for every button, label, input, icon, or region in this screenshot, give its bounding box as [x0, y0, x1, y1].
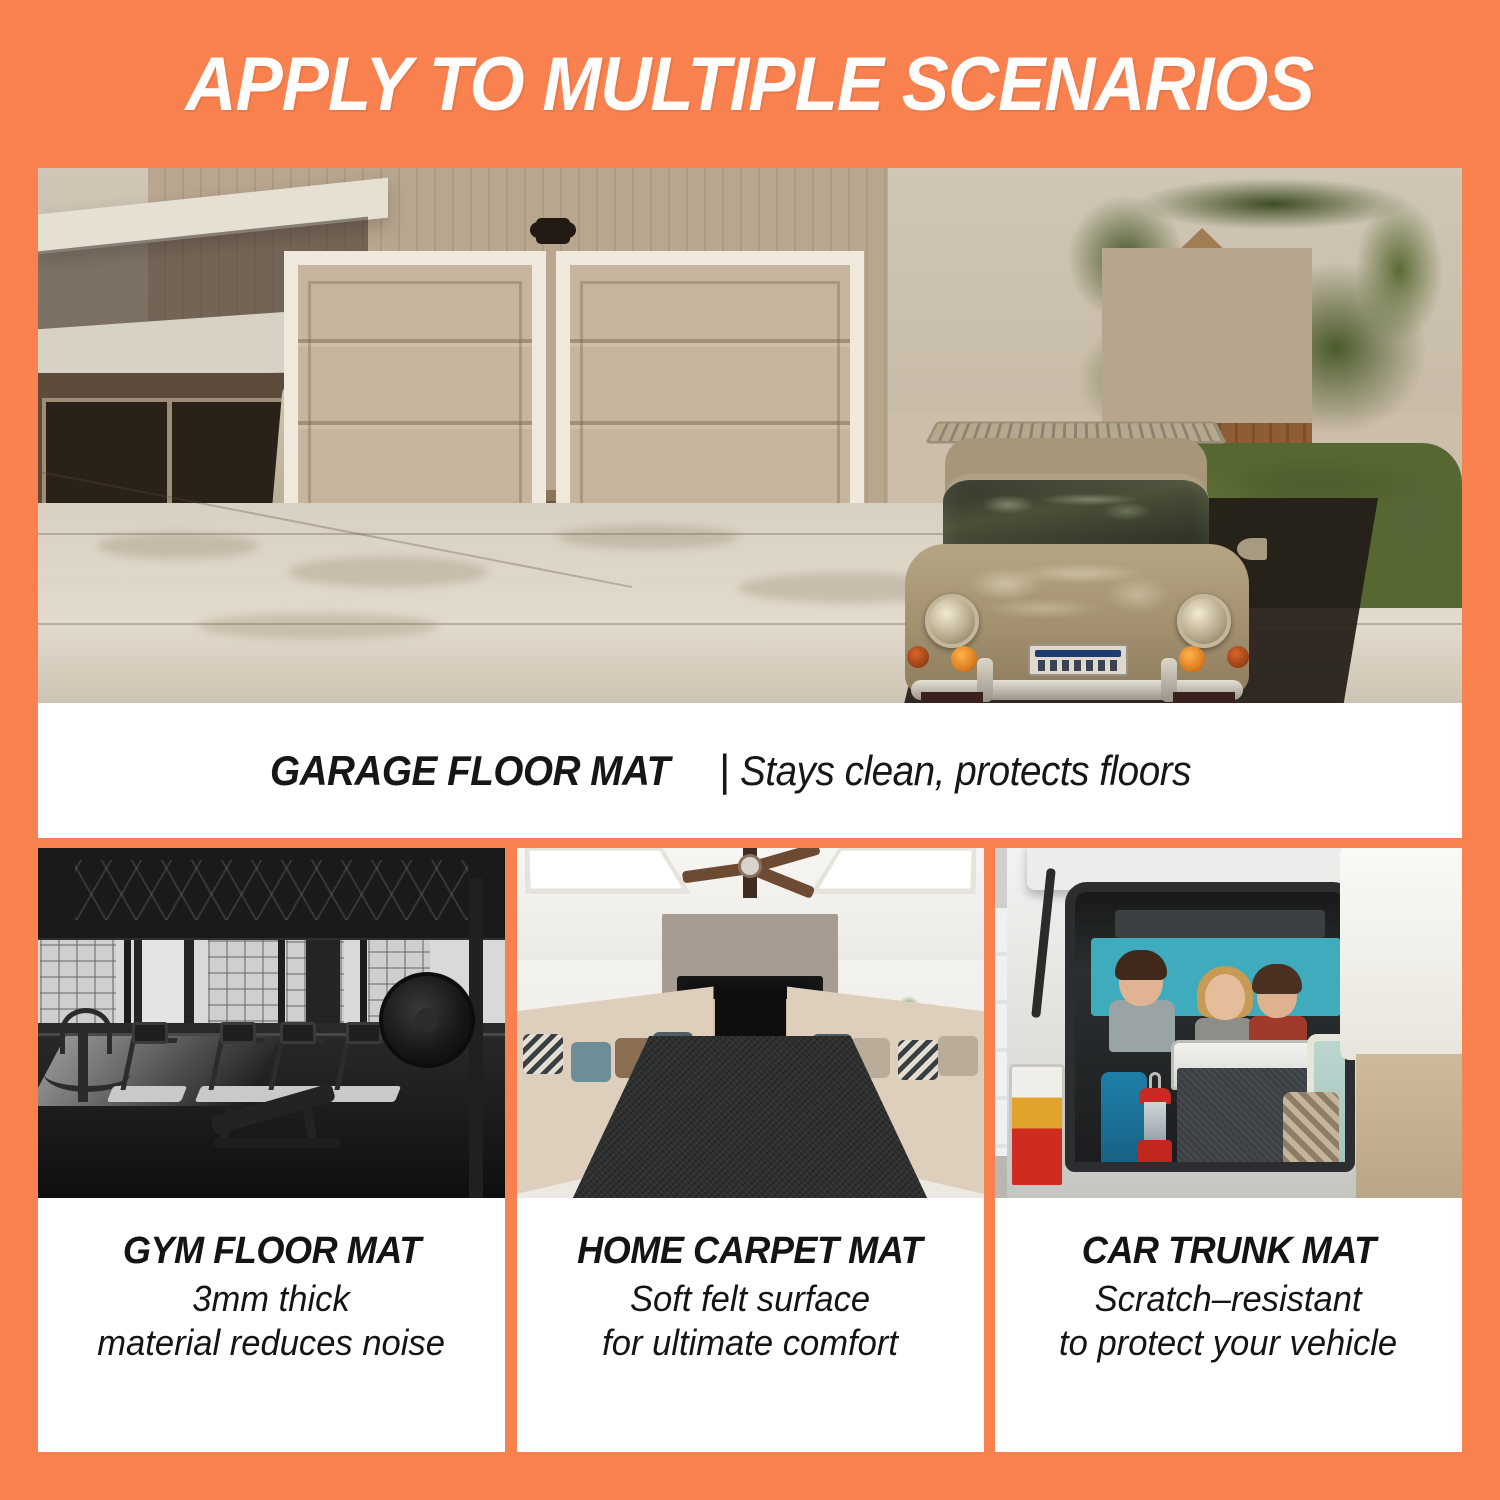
turn-signal-left — [951, 646, 977, 672]
dappled-shadow — [98, 533, 258, 559]
tail-light — [1009, 1064, 1065, 1188]
child-left — [1109, 956, 1175, 1048]
side-marker-left — [907, 646, 929, 668]
home-caption: HOME CARPET MAT Soft felt surface for ul… — [517, 1198, 984, 1452]
trunk-scene-illustration — [995, 848, 1462, 1198]
trunk-card-subtitle-line1: Scratch–resistant — [1095, 1277, 1362, 1321]
gym-photo — [38, 848, 505, 1198]
windshield — [943, 474, 1209, 554]
tire-left — [921, 692, 983, 703]
trunk-opening — [1065, 882, 1355, 1172]
tire-right — [1173, 692, 1235, 703]
gym-card-subtitle-line1: 3mm thick — [193, 1277, 350, 1321]
gym-caption: GYM FLOOR MAT 3mm thick material reduces… — [38, 1198, 505, 1452]
camping-lantern — [1137, 1088, 1173, 1172]
ceiling-fan — [672, 848, 828, 910]
featured-caption-title: GARAGE FLOOR MAT — [270, 747, 670, 795]
living-room-scene-illustration — [517, 848, 984, 1198]
skylight-left — [524, 848, 690, 894]
trunk-caption: CAR TRUNK MAT Scratch–resistant to prote… — [995, 1198, 1462, 1452]
vintage-car — [883, 418, 1273, 703]
throw-pillow — [898, 1040, 938, 1080]
hood-light-dapple — [943, 556, 1193, 626]
gym-card-subtitle-line2: material reduces noise — [98, 1321, 446, 1365]
garage-photo — [38, 168, 1462, 703]
throw-pillow — [523, 1034, 563, 1074]
headlight-left — [925, 594, 979, 648]
throw-pillow — [571, 1042, 611, 1082]
dappled-shadow — [198, 613, 438, 639]
house-window — [42, 398, 292, 508]
scenario-card-gym: GYM FLOOR MAT 3mm thick material reduces… — [38, 848, 505, 1452]
home-card-subtitle-line2: for ultimate comfort — [602, 1321, 898, 1365]
security-light — [536, 218, 570, 244]
treadmill — [110, 1024, 184, 1102]
car-trunk-photo — [995, 848, 1462, 1198]
living-room-photo — [517, 848, 984, 1198]
scenario-card-row: GYM FLOOR MAT 3mm thick material reduces… — [38, 848, 1462, 1452]
headliner — [1115, 910, 1325, 938]
adult-standing — [1340, 848, 1462, 1198]
gym-card-title: GYM FLOOR MAT — [123, 1230, 421, 1273]
home-card-subtitle-line1: Soft felt surface — [630, 1277, 870, 1321]
featured-caption: GARAGE FLOOR MAT | Stays clean, protects… — [38, 703, 1462, 838]
side-mirror — [1237, 538, 1267, 560]
trunk-card-subtitle-line2: to protect your vehicle — [1059, 1321, 1397, 1365]
license-plate — [1028, 644, 1128, 676]
featured-card: GARAGE FLOOR MAT | Stays clean, protects… — [38, 168, 1462, 838]
side-marker-right — [1227, 646, 1249, 668]
headlight-right — [1177, 594, 1231, 648]
garage-scene-illustration — [38, 168, 1462, 703]
featured-caption-subtitle: Stays clean, protects floors — [740, 747, 1191, 795]
gym-ceiling-grid — [38, 848, 505, 940]
scenario-card-trunk: CAR TRUNK MAT Scratch–resistant to prote… — [995, 848, 1462, 1452]
barbell-weight-plate — [379, 972, 475, 1068]
gym-scene-illustration — [38, 848, 505, 1198]
skylight-right — [809, 848, 975, 894]
throw-pillow — [938, 1036, 978, 1076]
caption-line: GARAGE FLOOR MAT | Stays clean, protects… — [270, 746, 1230, 796]
dappled-shadow — [288, 557, 488, 587]
page-header: APPLY TO MULTIPLE SCENARIOS — [0, 0, 1500, 168]
weight-bench — [210, 1074, 350, 1148]
folded-blanket — [1283, 1092, 1339, 1172]
scenario-card-home: HOME CARPET MAT Soft felt surface for ul… — [517, 848, 984, 1452]
caption-separator: | — [718, 746, 729, 796]
trunk-card-title: CAR TRUNK MAT — [1082, 1230, 1376, 1273]
dappled-shadow — [558, 525, 738, 549]
page-title: APPLY TO MULTIPLE SCENARIOS — [186, 41, 1314, 128]
turn-signal-right — [1179, 646, 1205, 672]
home-card-title: HOME CARPET MAT — [577, 1230, 922, 1273]
